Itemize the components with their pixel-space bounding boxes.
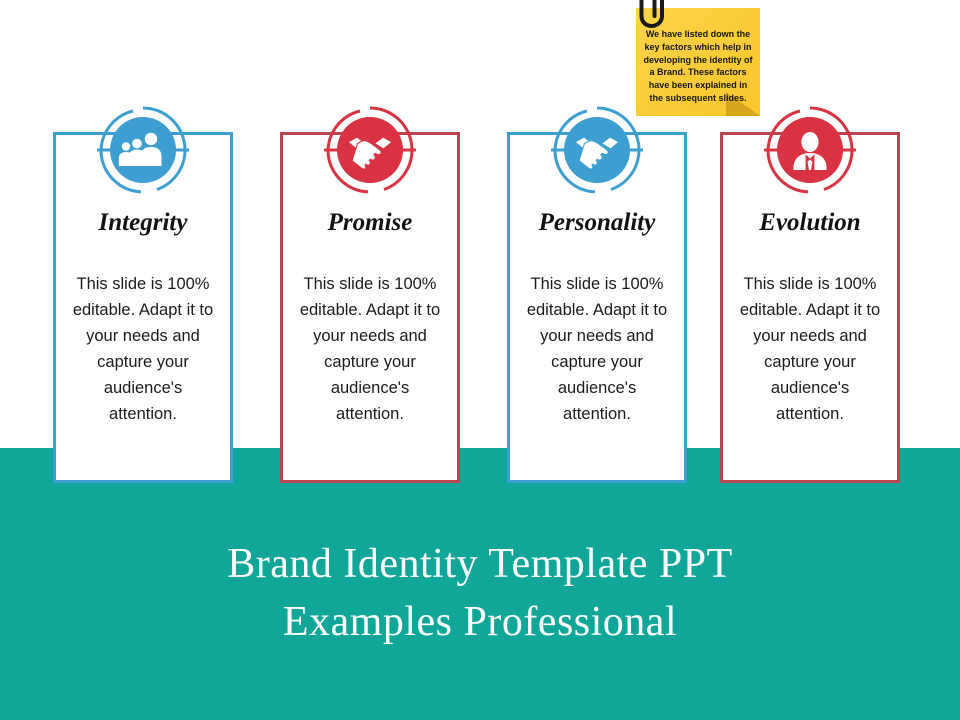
slide-title-line-2: Examples Professional <box>0 594 960 652</box>
slide-title: Brand Identity Template PPT Examples Pro… <box>0 536 960 652</box>
card-body-text: This slide is 100% editable. Adapt it to… <box>68 271 218 427</box>
group-of-people-icon <box>97 104 189 196</box>
sticky-note[interactable]: We have listed down the key factors whic… <box>620 0 768 128</box>
slide-title-line-1: Brand Identity Template PPT <box>0 536 960 594</box>
paperclip-icon <box>636 0 676 30</box>
handshake-icon <box>324 104 416 196</box>
card-title: Personality <box>510 209 684 237</box>
badge-integrity <box>97 104 189 196</box>
card-title: Promise <box>283 209 457 237</box>
card-title: Evolution <box>723 209 897 237</box>
card-title: Integrity <box>56 209 230 237</box>
card-body-text: This slide is 100% editable. Adapt it to… <box>735 271 885 427</box>
badge-promise <box>324 104 416 196</box>
sticky-note-text: We have listed down the key factors whic… <box>642 28 754 105</box>
card-body-text: This slide is 100% editable. Adapt it to… <box>522 271 672 427</box>
business-person-icon <box>764 104 856 196</box>
badge-evolution <box>764 104 856 196</box>
card-body-text: This slide is 100% editable. Adapt it to… <box>295 271 445 427</box>
